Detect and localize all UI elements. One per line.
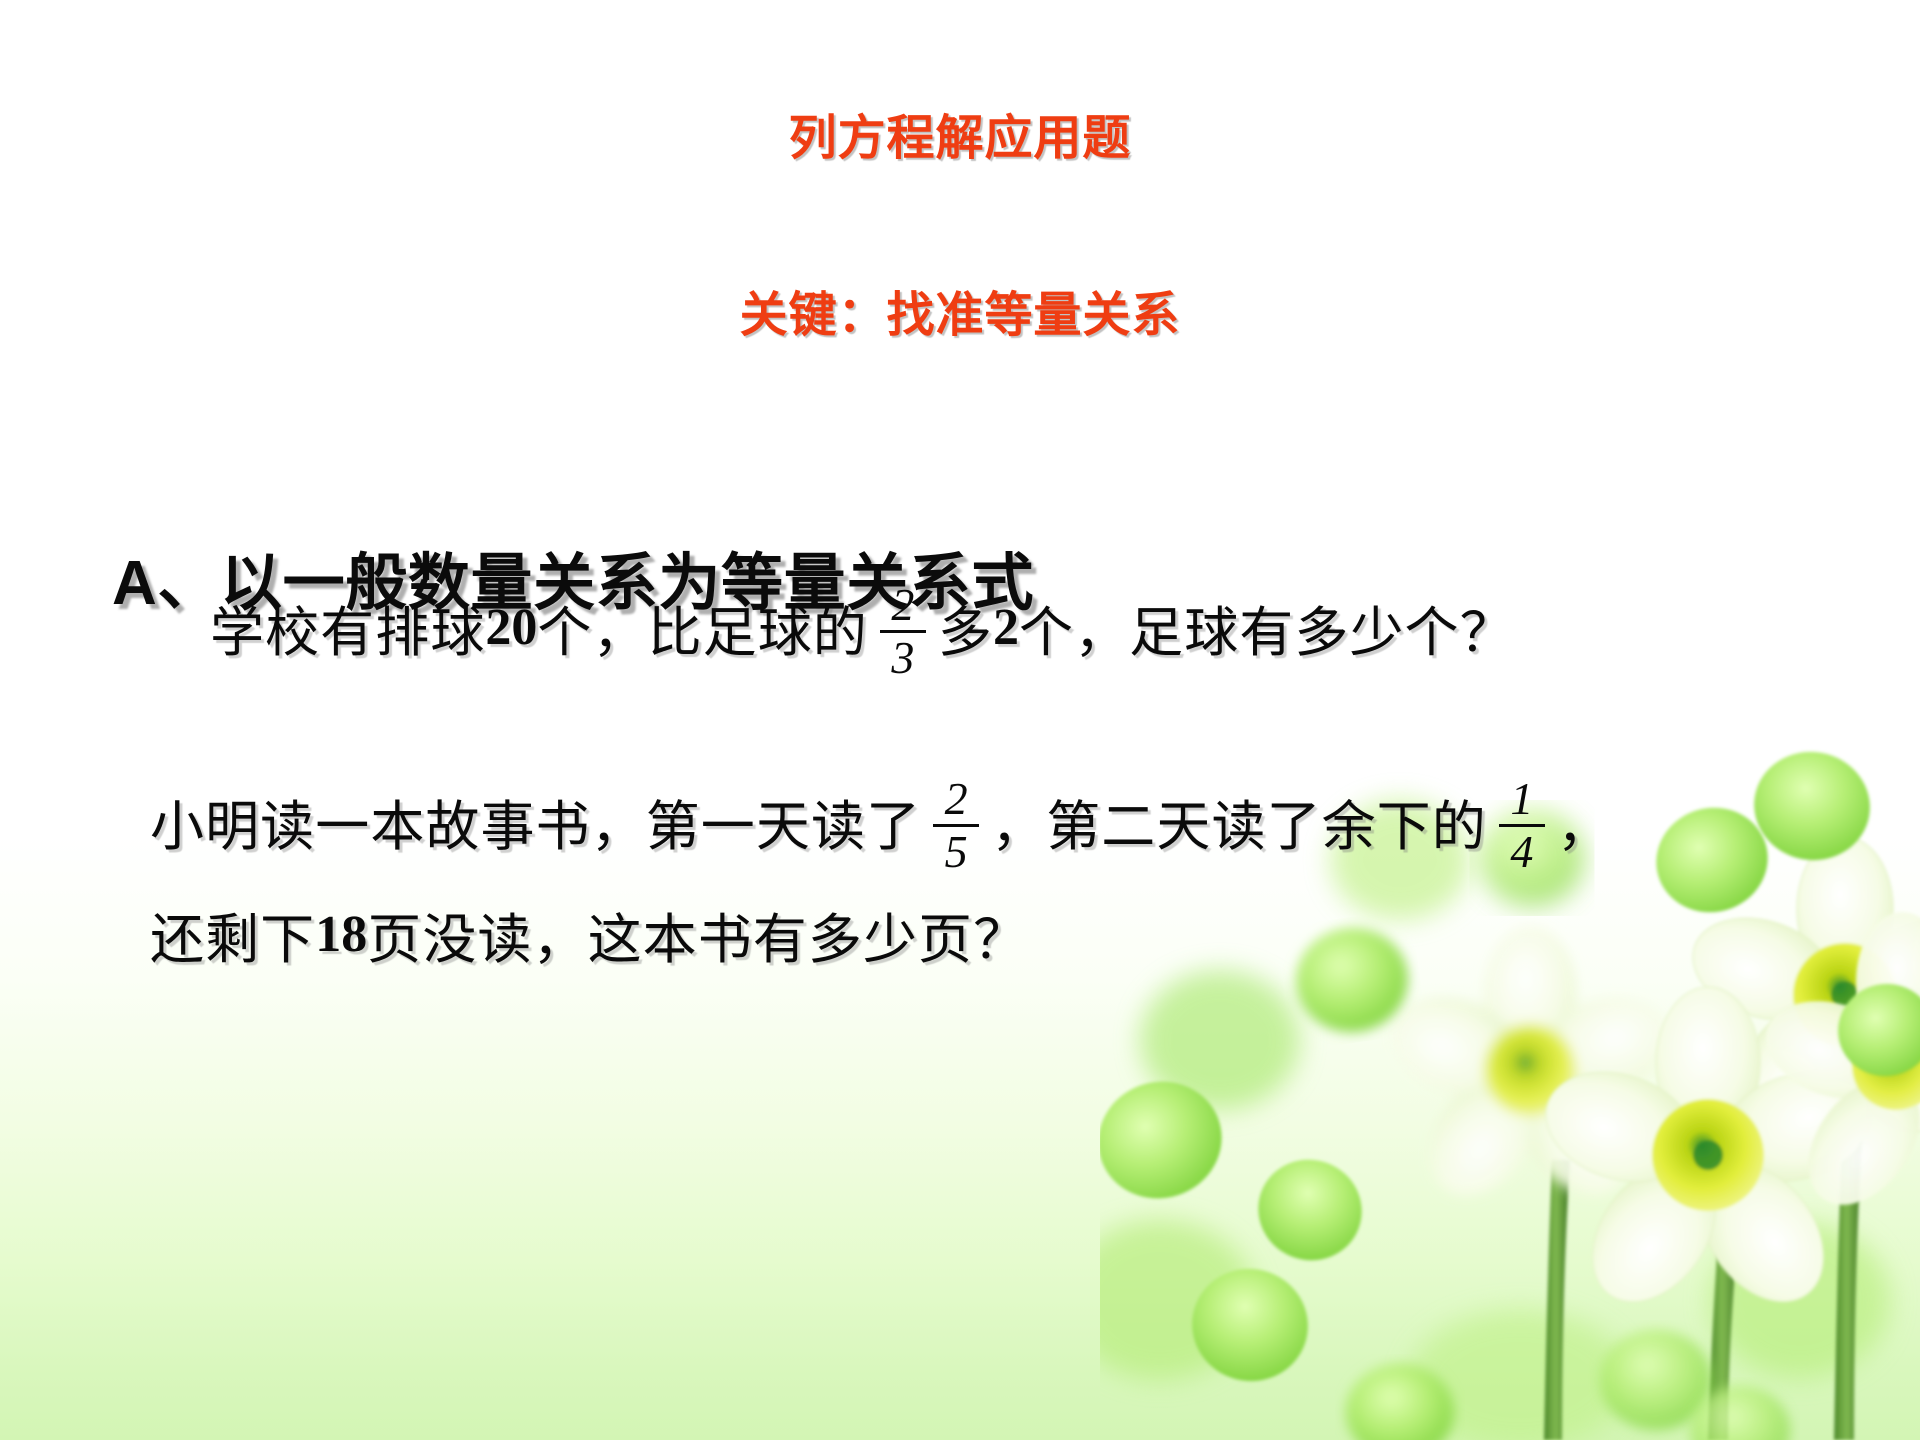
flower-stems [1544,1140,1862,1440]
flower-upper-right [1680,837,1920,1153]
problem-1-text-b: 个，比足球的 [537,588,867,667]
fraction-one-quarter: 1 4 [1499,776,1545,875]
fraction-two-fifths: 2 5 [933,776,979,875]
fraction-denominator: 4 [1504,827,1539,875]
problem-1-text-d: 个，足球有多少个？ [1019,588,1515,667]
problem-2-line-1: 小明读一本故事书，第一天读了 2 5 ，第二天读了余下的 1 4 ， [150,772,1612,871]
problem-1-text-a: 学校有排球 [210,588,485,667]
problem-2-text-c: ， [1557,782,1612,861]
problem-1-text-c: 多 [938,588,993,667]
flower-back [1379,926,1681,1216]
problem-1-number-2: 2 [993,598,1019,657]
background-bokeh [1100,800,1890,1440]
key-point-heading: 关键：找准等量关系 [0,275,1920,345]
problem-2-number-18: 18 [315,905,367,964]
fraction-numerator: 1 [1504,776,1539,824]
fraction-numerator: 2 [885,582,920,630]
flower-front-center [1532,987,1885,1325]
problem-2-text-e: 页没读，这本书有多少页？ [367,895,1028,974]
problem-2-line-2: 还剩下 18 页没读，这本书有多少页？ [150,895,1028,974]
page-title: 列方程解应用题 [0,98,1920,168]
fraction-two-thirds: 2 3 [880,582,926,681]
problem-1-line-1: 学校有排球 20 个，比足球的 2 3 多 2 个，足球有多少个？ [210,578,1515,677]
flower-right-edge [1753,912,1920,1226]
fraction-denominator: 5 [939,827,974,875]
problem-2-text-d: 还剩下 [150,895,315,974]
fraction-numerator: 2 [939,776,974,824]
problem-2-text-a: 小明读一本故事书，第一天读了 [150,782,921,861]
problem-1-number-20: 20 [485,598,537,657]
problem-2-text-b: ，第二天读了余下的 [991,782,1487,861]
fraction-denominator: 3 [885,633,920,681]
slide-canvas: 列方程解应用题 关键：找准等量关系 A、以一般数量关系为等量关系式 学校有排球 … [0,0,1920,1440]
